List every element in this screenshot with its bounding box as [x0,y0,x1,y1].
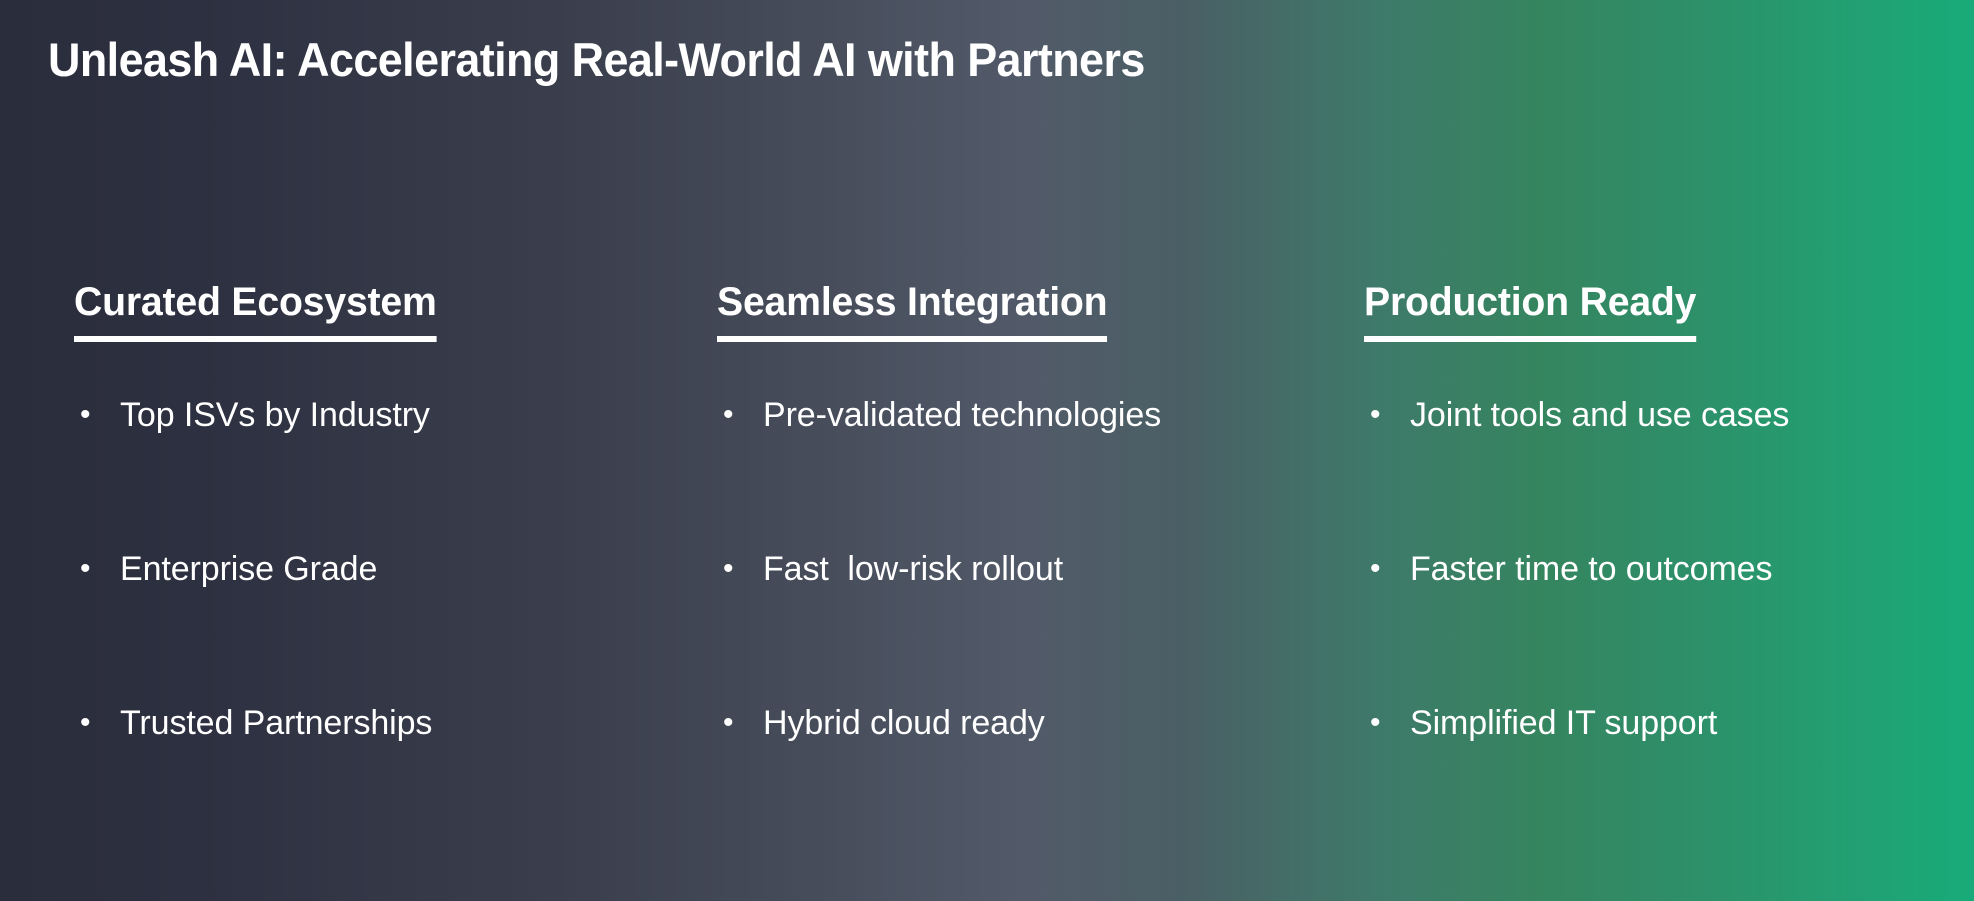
column-heading-curated-ecosystem: Curated Ecosystem [74,280,437,342]
list-item: • Top ISVs by Industry [74,394,645,548]
column-production-ready: Production Ready • Joint tools and use c… [1295,280,1974,856]
column-heading-production-ready: Production Ready [1364,280,1696,342]
list-item: • Simplified IT support [1364,702,1974,856]
list-item: • Joint tools and use cases [1364,394,1974,548]
list-item: • Hybrid cloud ready [717,702,1295,856]
bullet-icon: • [717,702,763,744]
bullet-list-curated-ecosystem: • Top ISVs by Industry • Enterprise Grad… [74,394,645,856]
bullet-icon: • [74,394,120,436]
bullet-icon: • [74,548,120,590]
bullet-text: Enterprise Grade [120,548,645,590]
page-title: Unleash AI: Accelerating Real-World AI w… [48,32,1145,87]
bullet-list-production-ready: • Joint tools and use cases • Faster tim… [1364,394,1974,856]
list-item: • Faster time to outcomes [1364,548,1974,702]
bullet-icon: • [717,394,763,436]
list-item: • Pre-validated technologies [717,394,1295,548]
bullet-icon: • [1364,702,1410,744]
bullet-text: Joint tools and use cases [1410,394,1974,436]
bullet-text: Hybrid cloud ready [763,702,1295,744]
column-heading-seamless-integration: Seamless Integration [717,280,1107,342]
bullet-icon: • [1364,548,1410,590]
column-seamless-integration: Seamless Integration • Pre-validated tec… [645,280,1295,856]
list-item: • Enterprise Grade [74,548,645,702]
bullet-text: Top ISVs by Industry [120,394,645,436]
bullet-icon: • [1364,394,1410,436]
list-item: • Trusted Partnerships [74,702,645,856]
bullet-text: Faster time to outcomes [1410,548,1974,590]
bullet-list-seamless-integration: • Pre-validated technologies • Fast low-… [717,394,1295,856]
bullet-text: Trusted Partnerships [120,702,645,744]
slide-canvas: Unleash AI: Accelerating Real-World AI w… [0,0,1974,901]
list-item: • Fast low-risk rollout [717,548,1295,702]
bullet-text: Simplified IT support [1410,702,1974,744]
bullet-text: Pre-validated technologies [763,394,1295,436]
bullet-icon: • [717,548,763,590]
bullet-icon: • [74,702,120,744]
bullet-text: Fast low-risk rollout [763,548,1295,590]
columns-container: Curated Ecosystem • Top ISVs by Industry… [0,280,1974,856]
column-curated-ecosystem: Curated Ecosystem • Top ISVs by Industry… [0,280,645,856]
